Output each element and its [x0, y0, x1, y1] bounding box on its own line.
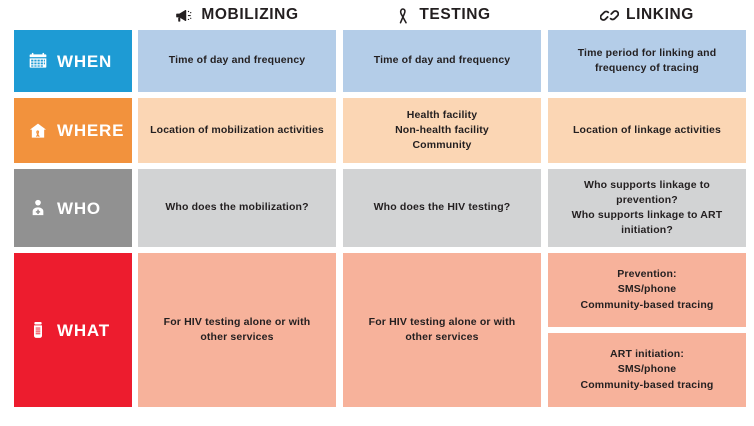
cell-box-art-initiation: ART initiation: SMS/phone Community-base… [548, 333, 746, 407]
cell-line: Location of linkage activities [573, 123, 721, 138]
cell-line: initiation? [621, 223, 673, 238]
cell-box: Time period for linking and frequency of… [548, 30, 746, 92]
cell-line: Community [412, 138, 471, 153]
cell-box: Location of mobilization activities [138, 98, 336, 163]
ribbon-icon [393, 6, 412, 25]
row-label-where: WHERE [14, 98, 132, 163]
cell-line: Time of day and frequency [169, 53, 306, 68]
calendar-icon [28, 51, 48, 71]
cell-line: For HIV testing alone or with [369, 315, 516, 330]
row-what: WHAT For HIV testing alone or with other… [14, 253, 746, 407]
cell-box: For HIV testing alone or with other serv… [343, 253, 541, 407]
row-label-who: WHO [14, 169, 132, 247]
cell-box: Time of day and frequency [343, 30, 541, 92]
row-label-text: WHEN [57, 53, 112, 70]
cell-line: frequency of tracing [595, 61, 699, 76]
cell-what-mobilizing: For HIV testing alone or with other serv… [138, 253, 336, 407]
cell-line: SMS/phone [618, 282, 677, 297]
cell-where-testing: Health facility Non-health facility Comm… [343, 98, 541, 163]
cell-line: Non-health facility [395, 123, 489, 138]
cell-when-linking: Time period for linking and frequency of… [548, 30, 746, 92]
cell-line: SMS/phone [618, 362, 677, 377]
cell-who-linking: Who supports linkage to prevention? Who … [548, 169, 746, 247]
cell-box: Who does the mobilization? [138, 169, 336, 247]
matrix-board: MOBILIZING TESTING LINKING [0, 0, 754, 426]
cell-box: Who does the HIV testing? [343, 169, 541, 247]
cell-line: prevention? [616, 193, 678, 208]
column-header-row: MOBILIZING TESTING LINKING [14, 0, 746, 30]
megaphone-icon [175, 6, 194, 25]
cell-line: Who does the mobilization? [165, 200, 308, 215]
link-icon [600, 6, 619, 25]
row-who: WHO Who does the mobilization? Who does … [14, 169, 746, 247]
cell-what-testing: For HIV testing alone or with other serv… [343, 253, 541, 407]
column-header-mobilizing: MOBILIZING [138, 0, 336, 30]
cell-line: Location of mobilization activities [150, 123, 324, 138]
cell-line: For HIV testing alone or with [164, 315, 311, 330]
clinic-icon [28, 121, 48, 141]
cell-what-linking: Prevention: SMS/phone Community-based tr… [548, 253, 746, 407]
cell-line: other services [405, 330, 478, 345]
cell-box: Location of linkage activities [548, 98, 746, 163]
cell-who-mobilizing: Who does the mobilization? [138, 169, 336, 247]
cell-line: ART initiation: [610, 347, 684, 362]
cell-line: Time of day and frequency [374, 53, 511, 68]
cell-line: other services [200, 330, 273, 345]
column-header-label: TESTING [419, 6, 490, 24]
health-worker-icon [28, 198, 48, 218]
cell-box: Who supports linkage to prevention? Who … [548, 169, 746, 247]
column-header-testing: TESTING [343, 0, 541, 30]
cell-where-mobilizing: Location of mobilization activities [138, 98, 336, 163]
cell-box: Health facility Non-health facility Comm… [343, 98, 541, 163]
cell-line: Who does the HIV testing? [374, 200, 511, 215]
column-header-linking: LINKING [548, 0, 746, 30]
cell-line: Community-based tracing [581, 298, 714, 313]
row-label-text: WHAT [57, 322, 110, 339]
column-header-label: LINKING [626, 6, 694, 24]
cell-who-testing: Who does the HIV testing? [343, 169, 541, 247]
row-label-text: WHO [57, 200, 101, 217]
row-label-when: WHEN [14, 30, 132, 92]
cell-line: Time period for linking and [578, 46, 717, 61]
cell-where-linking: Location of linkage activities [548, 98, 746, 163]
cell-line: Who supports linkage to [584, 178, 710, 193]
column-header-label: MOBILIZING [201, 6, 298, 24]
cell-line: Community-based tracing [581, 378, 714, 393]
cell-box: For HIV testing alone or with other serv… [138, 253, 336, 407]
cell-box: Time of day and frequency [138, 30, 336, 92]
pill-bottle-icon [28, 320, 48, 340]
cell-box-prevention: Prevention: SMS/phone Community-based tr… [548, 253, 746, 327]
cell-line: Who supports linkage to ART [572, 208, 723, 223]
cell-when-testing: Time of day and frequency [343, 30, 541, 92]
cell-line: Health facility [407, 108, 478, 123]
row-when: WHEN Time of day and frequency Time of d… [14, 30, 746, 92]
cell-when-mobilizing: Time of day and frequency [138, 30, 336, 92]
row-label-text: WHERE [57, 122, 124, 139]
row-label-what: WHAT [14, 253, 132, 407]
cell-line: Prevention: [617, 267, 676, 282]
row-where: WHERE Location of mobilization activitie… [14, 98, 746, 163]
